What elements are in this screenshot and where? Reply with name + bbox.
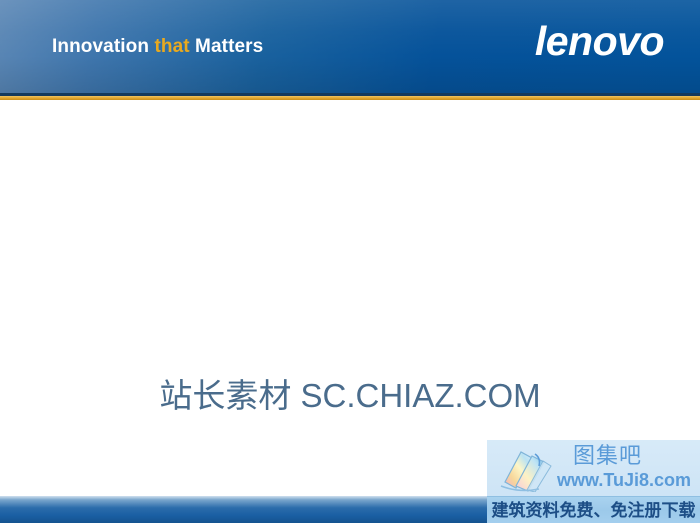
- badge-bottom-strip: 建筑资料免费、免注册下载: [487, 496, 700, 523]
- badge-site-title: 图集吧: [573, 443, 642, 469]
- tagline-text-after: Matters: [190, 36, 264, 57]
- brand-tagline: Innovation that Matters: [52, 36, 263, 58]
- site-watermark-badge: 图集吧 www.TuJi8.com 建筑资料免费、免注册下载: [487, 440, 700, 523]
- presentation-slide: Innovation that Matters lenovo 站长素材 SC.C…: [0, 0, 700, 523]
- slide-body: 站长素材 SC.CHIAZ.COM Lenovo Confidential: [0, 100, 700, 496]
- center-watermark-text: 站长素材 SC.CHIAZ.COM: [0, 376, 700, 416]
- tagline-text-highlight: that: [154, 36, 189, 57]
- tagline-text-before: Innovation: [52, 36, 154, 57]
- slide-header-band: Innovation that Matters lenovo: [0, 0, 700, 93]
- badge-site-url: www.TuJi8.com: [557, 469, 691, 491]
- lenovo-logo: lenovo: [535, 21, 664, 62]
- badge-top-section: 图集吧 www.TuJi8.com: [487, 440, 700, 495]
- open-book-icon: [499, 446, 557, 492]
- badge-strip-label: 建筑资料免费、免注册下载: [487, 500, 700, 521]
